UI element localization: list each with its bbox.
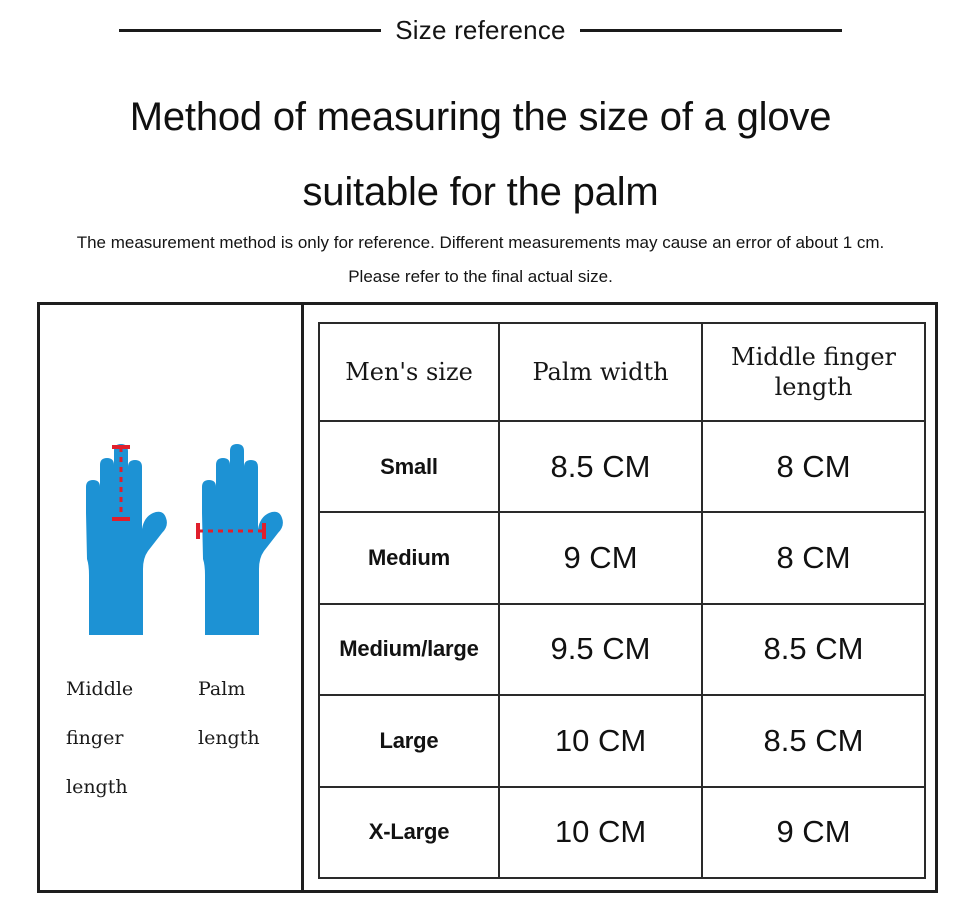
banner-rule-right <box>580 29 842 32</box>
disclaimer-line-1: The measurement method is only for refer… <box>0 226 961 260</box>
table-row: X-Large 10 CM 9 CM <box>319 787 925 878</box>
banner: Size reference <box>0 10 961 50</box>
caption-middle-line-3: length <box>66 763 133 812</box>
disclaimer-line-2: Please refer to the final actual size. <box>0 260 961 294</box>
cell-palm-width: 9.5 CM <box>499 604 702 695</box>
cell-size: Medium <box>319 512 499 603</box>
cell-size: Medium/large <box>319 604 499 695</box>
table-row: Medium 9 CM 8 CM <box>319 512 925 603</box>
header-mfl-line-2: length <box>775 373 853 401</box>
cell-palm-width: 8.5 CM <box>499 421 702 512</box>
caption-middle-finger-length: Middle finger length <box>66 665 133 812</box>
banner-rule-left <box>119 29 381 32</box>
cell-middle-finger-length: 9 CM <box>702 787 925 878</box>
headline: Method of measuring the size of a glove … <box>0 80 961 230</box>
caption-palm-line-1: Palm <box>198 665 260 714</box>
header-middle-finger-length: Middle finger length <box>702 323 925 421</box>
page-title: Size reference <box>395 17 565 43</box>
table-row: Medium/large 9.5 CM 8.5 CM <box>319 604 925 695</box>
cell-size: X-Large <box>319 787 499 878</box>
caption-middle-line-2: finger <box>66 714 133 763</box>
cell-palm-width: 10 CM <box>499 695 702 786</box>
panel-divider <box>301 305 304 890</box>
cell-middle-finger-length: 8 CM <box>702 512 925 603</box>
caption-middle-line-1: Middle <box>66 665 133 714</box>
caption-palm-line-2: length <box>198 714 260 763</box>
header-mfl-line-1: Middle finger <box>731 343 896 371</box>
table-row: Small 8.5 CM 8 CM <box>319 421 925 512</box>
cell-middle-finger-length: 8.5 CM <box>702 604 925 695</box>
middle-finger-length-glove-icon <box>86 444 167 635</box>
cell-middle-finger-length: 8 CM <box>702 421 925 512</box>
size-table: Men's size Palm width Middle finger leng… <box>318 322 926 879</box>
table-row: Large 10 CM 8.5 CM <box>319 695 925 786</box>
cell-palm-width: 9 CM <box>499 512 702 603</box>
illustration-panel: Middle finger length Palm length <box>40 305 301 890</box>
glove-diagram <box>56 435 288 655</box>
headline-line-2: suitable for the palm <box>0 155 961 230</box>
disclaimer-note: The measurement method is only for refer… <box>0 226 961 294</box>
table-header-row: Men's size Palm width Middle finger leng… <box>319 323 925 421</box>
size-chart-frame: Middle finger length Palm length Men's s… <box>37 302 938 893</box>
glove-captions: Middle finger length Palm length <box>40 665 301 805</box>
palm-width-glove-icon <box>198 444 283 635</box>
cell-middle-finger-length: 8.5 CM <box>702 695 925 786</box>
cell-size: Large <box>319 695 499 786</box>
caption-palm-length: Palm length <box>198 665 260 763</box>
header-palm-width: Palm width <box>499 323 702 421</box>
cell-size: Small <box>319 421 499 512</box>
cell-palm-width: 10 CM <box>499 787 702 878</box>
header-mens-size: Men's size <box>319 323 499 421</box>
headline-line-1: Method of measuring the size of a glove <box>0 80 961 155</box>
size-table-container: Men's size Palm width Middle finger leng… <box>318 322 924 877</box>
